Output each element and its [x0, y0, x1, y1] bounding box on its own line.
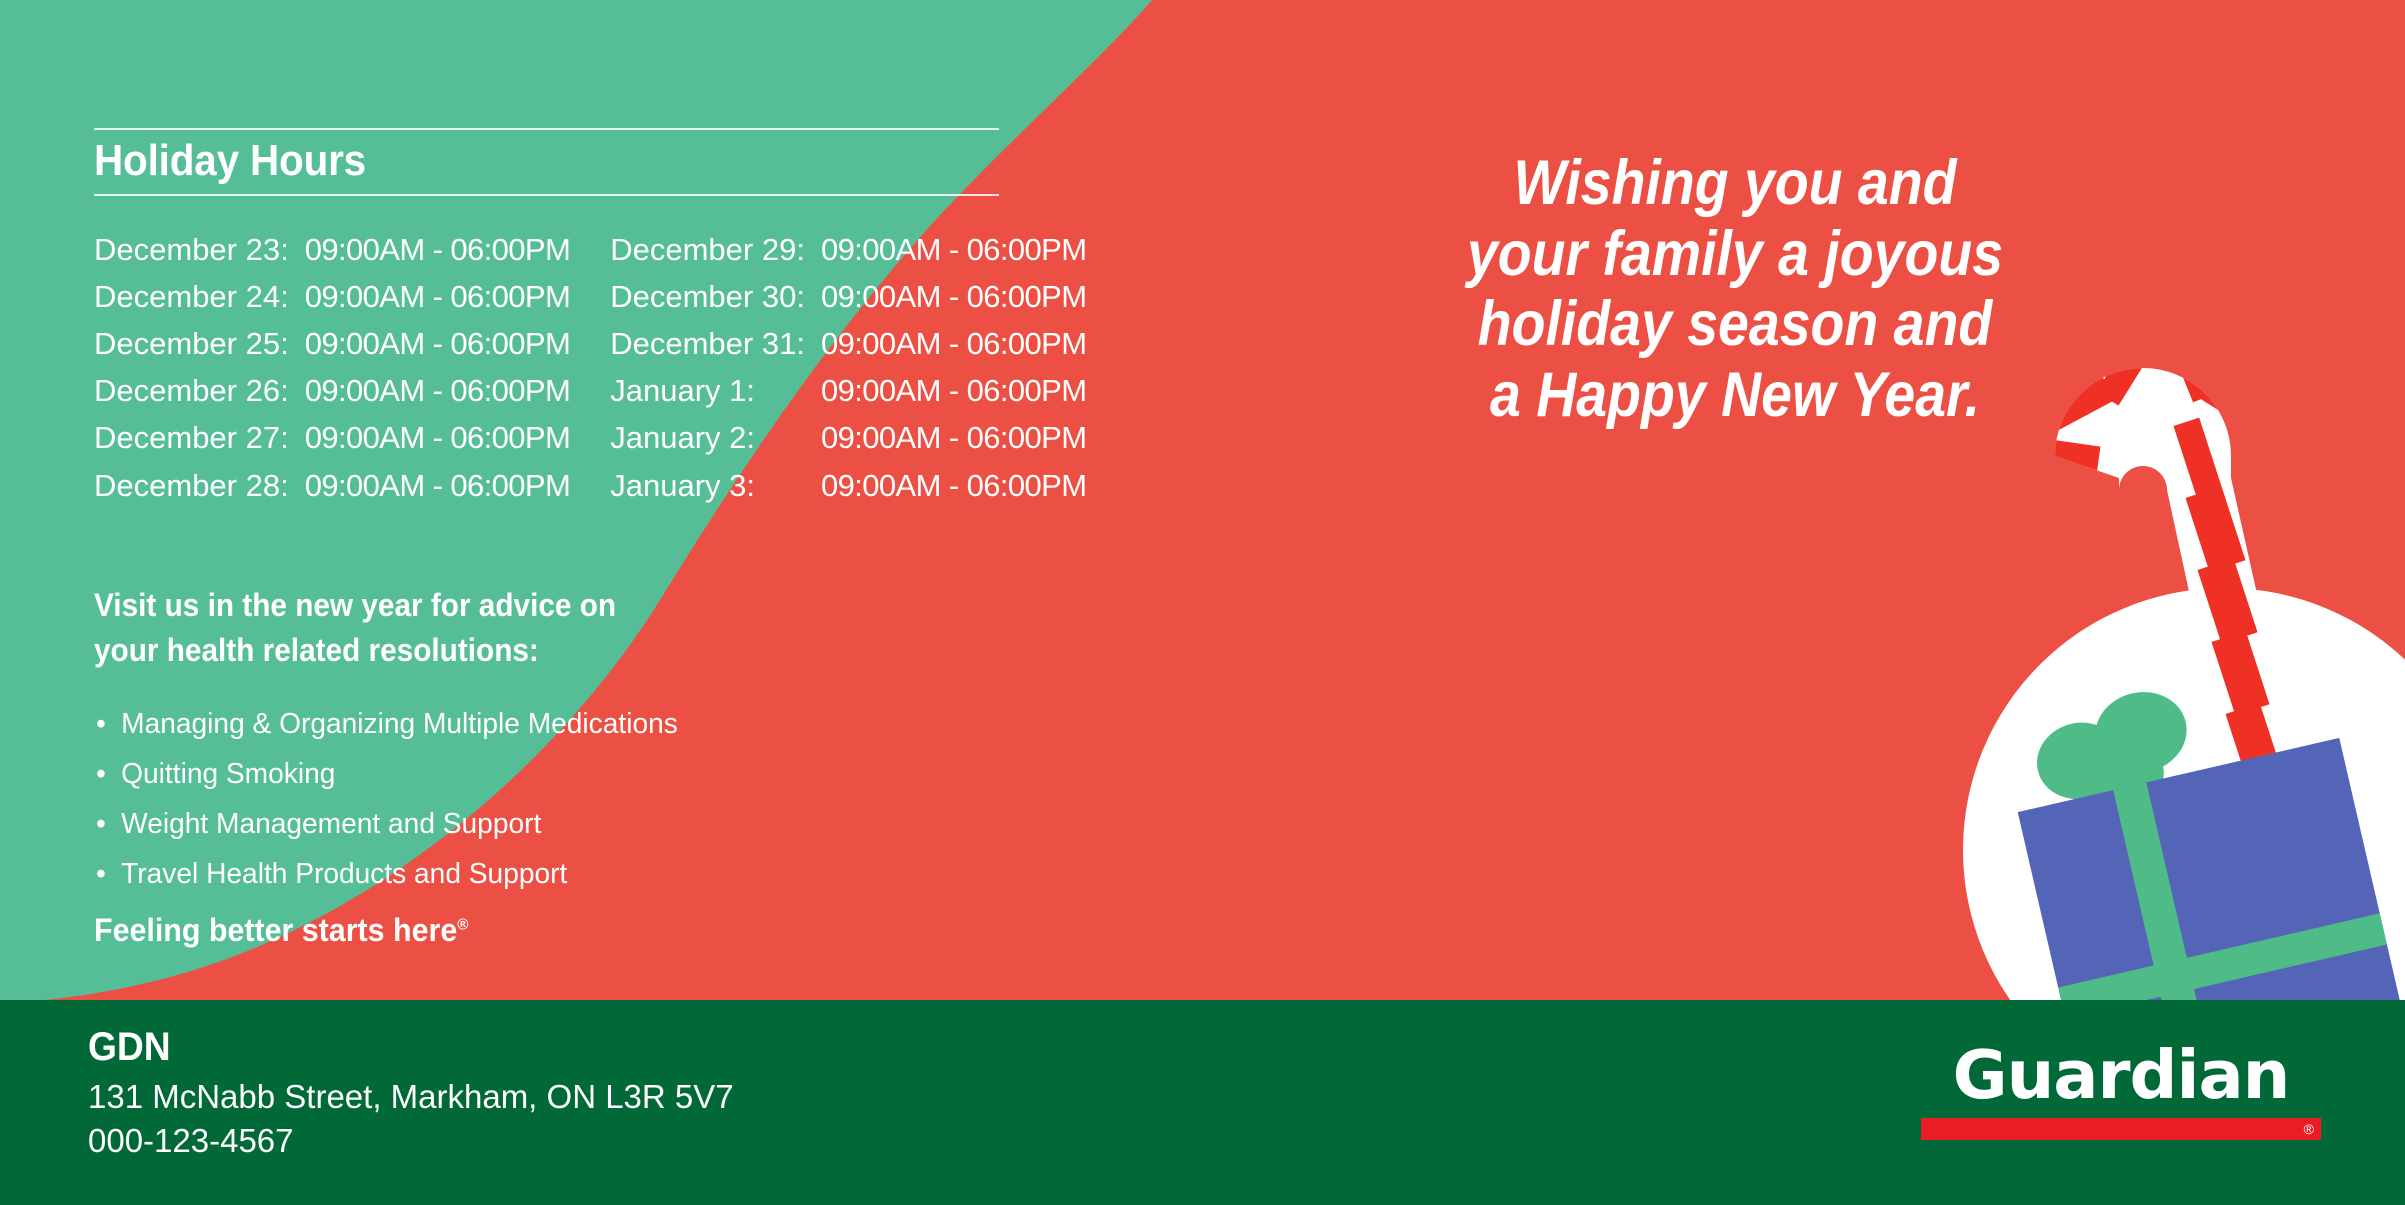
visit-line-2: your health related resolutions:: [94, 628, 819, 673]
hours-grid: December 23: 09:00AM - 06:00PM December …: [94, 226, 999, 509]
list-item: • Managing & Organizing Multiple Medicat…: [94, 700, 889, 750]
greeting-line: a Happy New Year.: [1379, 360, 2092, 431]
hours-row: December 28: 09:00AM - 06:00PM: [94, 462, 570, 509]
hours-day-label: December 24:: [94, 273, 305, 320]
hours-row: December 25: 09:00AM - 06:00PM: [94, 320, 570, 367]
list-item: • Quitting Smoking: [94, 750, 889, 800]
visit-line-1: Visit us in the new year for advice on: [94, 583, 819, 628]
holiday-hours-block: Holiday Hours December 23: 09:00AM - 06:…: [94, 128, 999, 509]
hours-day-label: December 25:: [94, 320, 305, 367]
store-information: GDN 131 McNabb Street, Markham, ON L3R 5…: [88, 1024, 734, 1163]
hours-column-right: December 29: 09:00AM - 06:00PM December …: [610, 226, 1086, 509]
hours-time-value: 09:00AM - 06:00PM: [821, 320, 1087, 367]
brand-tagline: Feeling better starts here®: [94, 912, 468, 949]
store-address: 131 McNabb Street, Markham, ON L3R 5V7: [88, 1075, 734, 1119]
hours-day-label: January 2:: [610, 414, 821, 461]
hours-title: Holiday Hours: [94, 130, 927, 194]
hours-time-value: 09:00AM - 06:00PM: [821, 462, 1087, 509]
hours-row: December 27: 09:00AM - 06:00PM: [94, 414, 570, 461]
bullet-dot-icon: •: [96, 850, 106, 900]
guardian-wordmark: Guardian: [1921, 1042, 2321, 1109]
greeting-line: Wishing you and: [1379, 148, 2092, 219]
hours-row: December 30: 09:00AM - 06:00PM: [610, 273, 1086, 320]
hours-time-value: 09:00AM - 06:00PM: [305, 462, 571, 509]
hours-time-value: 09:00AM - 06:00PM: [305, 273, 571, 320]
hours-row: January 1: 09:00AM - 06:00PM: [610, 367, 1086, 414]
hours-time-value: 09:00AM - 06:00PM: [821, 273, 1087, 320]
hours-row: January 3: 09:00AM - 06:00PM: [610, 462, 1086, 509]
hours-time-value: 09:00AM - 06:00PM: [305, 226, 571, 273]
left-content-panel: Holiday Hours December 23: 09:00AM - 06:…: [94, 0, 1194, 1000]
guardian-logo: Guardian ®: [1921, 1042, 2321, 1140]
hours-row: December 31: 09:00AM - 06:00PM: [610, 320, 1086, 367]
hours-row: December 29: 09:00AM - 06:00PM: [610, 226, 1086, 273]
hours-day-label: December 28:: [94, 462, 305, 509]
list-item: • Weight Management and Support: [94, 800, 889, 850]
registered-trademark-icon: ®: [2304, 1121, 2314, 1137]
holiday-hours-poster: Holiday Hours December 23: 09:00AM - 06:…: [0, 0, 2405, 1205]
greeting-message: Wishing you and your family a joyous hol…: [1330, 148, 2140, 430]
hours-day-label: January 1:: [610, 367, 821, 414]
hours-day-label: December 27:: [94, 414, 305, 461]
hours-bottom-rule: [94, 194, 999, 196]
guardian-logo-bar: ®: [1921, 1118, 2321, 1140]
hours-row: December 24: 09:00AM - 06:00PM: [94, 273, 570, 320]
hours-day-label: December 31:: [610, 320, 821, 367]
visit-invitation-block: Visit us in the new year for advice on y…: [94, 583, 874, 674]
hours-day-label: January 3:: [610, 462, 821, 509]
list-item: • Travel Health Products and Support: [94, 850, 889, 900]
list-item-label: Quitting Smoking: [121, 758, 335, 790]
hours-day-label: December 29:: [610, 226, 821, 273]
list-item-label: Managing & Organizing Multiple Medicatio…: [121, 708, 678, 740]
hours-row: December 23: 09:00AM - 06:00PM: [94, 226, 570, 273]
store-name: GDN: [88, 1024, 688, 1071]
hours-time-value: 09:00AM - 06:00PM: [821, 226, 1087, 273]
hours-day-label: December 30:: [610, 273, 821, 320]
bullet-dot-icon: •: [96, 800, 106, 850]
greeting-line: your family a joyous: [1379, 219, 2092, 290]
hours-time-value: 09:00AM - 06:00PM: [305, 320, 571, 367]
store-phone: 000-123-4567: [88, 1119, 734, 1163]
hours-row: January 2: 09:00AM - 06:00PM: [610, 414, 1086, 461]
bullet-dot-icon: •: [96, 750, 106, 800]
tagline-text: Feeling better starts here: [94, 912, 457, 948]
hours-time-value: 09:00AM - 06:00PM: [821, 414, 1087, 461]
hours-day-label: December 26:: [94, 367, 305, 414]
bullet-dot-icon: •: [96, 700, 106, 750]
hours-column-left: December 23: 09:00AM - 06:00PM December …: [94, 226, 570, 509]
hours-day-label: December 23:: [94, 226, 305, 273]
list-item-label: Travel Health Products and Support: [121, 858, 567, 890]
greeting-line: holiday season and: [1379, 289, 2092, 360]
registered-trademark-icon: ®: [457, 916, 468, 933]
services-bullet-list: • Managing & Organizing Multiple Medicat…: [94, 700, 914, 900]
hours-time-value: 09:00AM - 06:00PM: [305, 414, 571, 461]
footer-bar: GDN 131 McNabb Street, Markham, ON L3R 5…: [0, 1000, 2405, 1205]
hours-time-value: 09:00AM - 06:00PM: [305, 367, 571, 414]
list-item-label: Weight Management and Support: [121, 808, 541, 840]
hours-row: December 26: 09:00AM - 06:00PM: [94, 367, 570, 414]
hours-time-value: 09:00AM - 06:00PM: [821, 367, 1087, 414]
